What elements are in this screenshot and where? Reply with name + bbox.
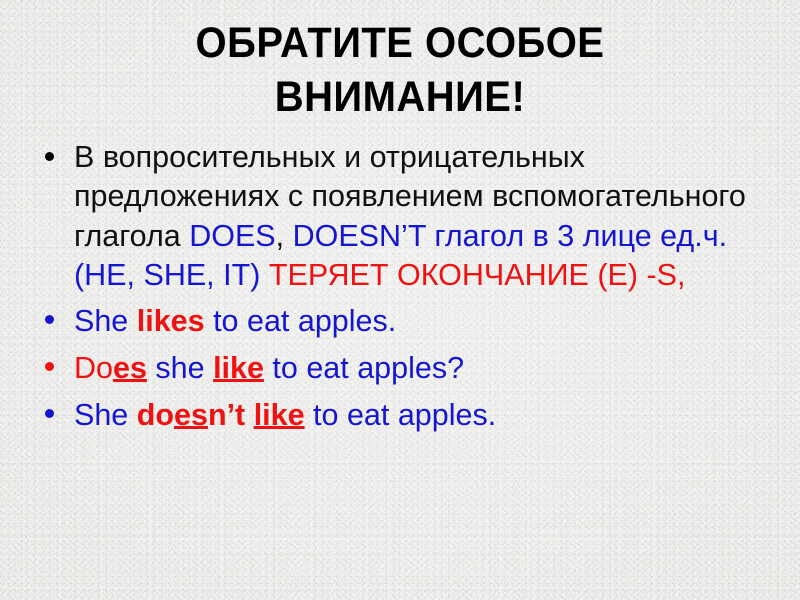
text-run: to eat apples? [264,351,464,385]
text-run: DOES [189,219,275,253]
slide-canvas: ОБРАТИТЕ ОСОБОЕ ВНИМАНИЕ! В вопросительн… [0,0,800,600]
text-run: , [276,219,293,253]
text-run: likes [137,304,205,338]
bullet-marker-icon [45,409,54,418]
slide-title: ОБРАТИТЕ ОСОБОЕ ВНИМАНИЕ! [0,16,800,124]
text-run: to eat apples. [305,398,497,432]
list-item: She likes to eat apples. [0,302,800,341]
list-item-text: She likes to eat apples. [74,302,790,341]
bullet-marker-icon [45,315,54,324]
list-item: Does she like to eat apples? [0,349,800,388]
text-run: to eat apples. [205,304,397,338]
text-run: es [113,351,147,385]
list-item: She doesn’t like to eat apples. [0,396,800,435]
bullet-marker-icon [45,362,54,371]
text-run: es [174,398,208,432]
slide-title-line-1: ОБРАТИТЕ ОСОБОЕ [28,16,772,70]
text-run: like [254,398,305,432]
list-item-text: She doesn’t like to eat apples. [74,396,790,435]
bullet-marker-icon [45,152,54,161]
text-run: like [213,351,264,385]
list-item: В вопросительных и отрицательных предлож… [0,138,800,296]
list-item-text: Does she like to eat apples? [74,349,790,388]
list-item-text: В вопросительных и отрицательных предлож… [74,138,790,296]
text-run: She [74,304,137,338]
text-run: she [147,351,213,385]
bullet-list: В вопросительных и отрицательных предлож… [0,138,800,435]
text-run: do [137,398,174,432]
slide-title-line-2: ВНИМАНИЕ! [28,70,772,124]
text-run: n’t [208,398,254,432]
text-run: Do [74,351,113,385]
text-run: ТЕРЯЕТ ОКОНЧАНИЕ (E) -S, [269,258,686,292]
text-run: She [74,398,137,432]
